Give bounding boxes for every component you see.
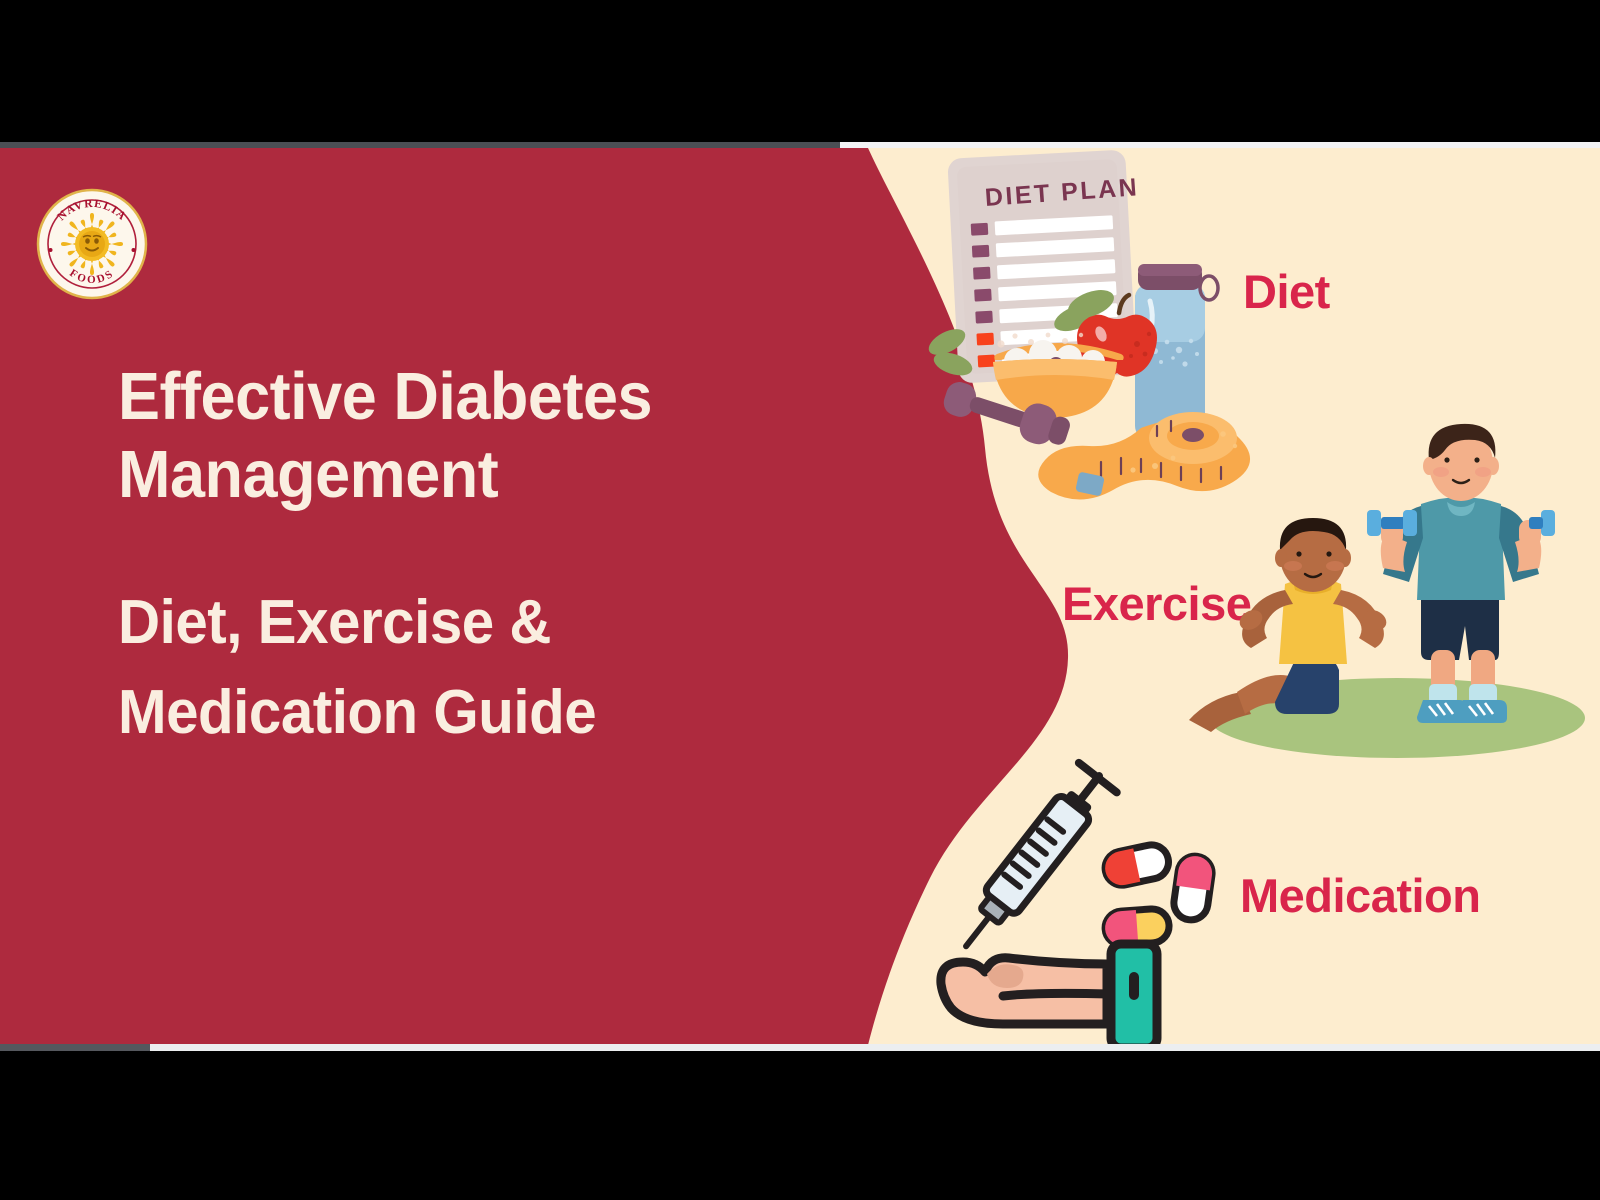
- checklist-checkbox: [975, 311, 993, 324]
- page-subtitle: Diet, Exercise & Medication Guide: [118, 578, 878, 758]
- headline-line-1: Effective Diabetes: [118, 358, 832, 436]
- checklist-checkbox: [978, 355, 996, 368]
- open-hand-icon: [941, 944, 1157, 1045]
- letterbox-bottom: [0, 1051, 1600, 1200]
- medication-illustration: [925, 748, 1225, 1045]
- slide-content: NAVRELIA FOODS Effective Diabetes Manage…: [0, 148, 1600, 1045]
- letterbox-bottom-edge-light: [150, 1044, 1600, 1051]
- exercise-illustration: [1185, 398, 1585, 758]
- checklist-checkbox: [972, 245, 990, 258]
- capsule-pink-white: [1172, 854, 1215, 922]
- letterbox-top: [0, 0, 1600, 142]
- category-label-medication: Medication: [1240, 868, 1480, 923]
- syringe-icon: [947, 761, 1118, 961]
- checklist-checkbox: [973, 267, 991, 280]
- capsule-red-white: [1102, 842, 1172, 889]
- checklist-checkbox: [971, 223, 989, 236]
- page-title: Effective Diabetes Management: [118, 358, 878, 515]
- subhead-line-1: Diet, Exercise &: [118, 578, 832, 668]
- headline-line-2: Management: [118, 436, 832, 514]
- checklist-checkbox: [974, 289, 992, 302]
- subhead-line-2: Medication Guide: [118, 668, 832, 758]
- slide-canvas: NAVRELIA FOODS Effective Diabetes Manage…: [0, 0, 1600, 1200]
- checklist-checkbox: [976, 333, 994, 346]
- navrelia-foods-logo[interactable]: NAVRELIA FOODS: [36, 188, 148, 300]
